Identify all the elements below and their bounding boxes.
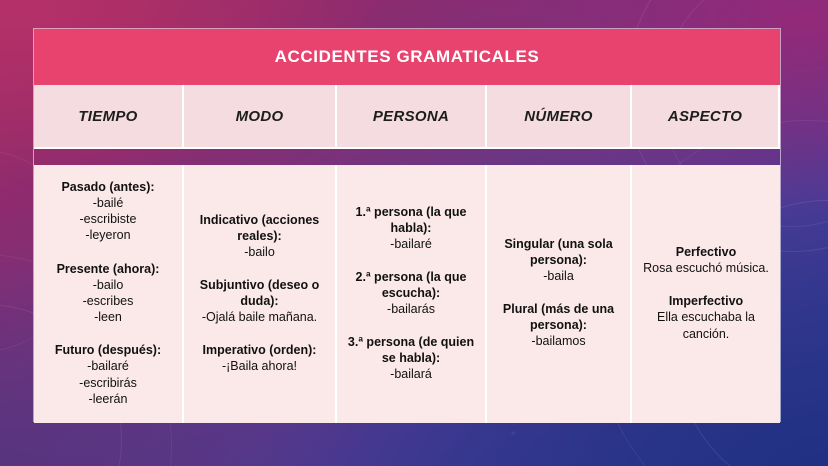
entry-block: Imperfectivo Ella escuchaba la canción.: [638, 293, 774, 342]
entry-title: 1.ª persona (la que habla):: [343, 204, 479, 236]
entry-line: -leen: [40, 309, 176, 325]
column-header-label: TIEMPO: [78, 108, 137, 125]
entry-title: Pasado (antes):: [40, 179, 176, 195]
column-header-modo: MODO: [184, 85, 337, 149]
entry-title: Plural (más de una persona):: [493, 301, 624, 333]
column-header-label: ASPECTO: [668, 108, 742, 125]
entry-line: -¡Baila ahora!: [190, 358, 329, 374]
column-header-aspecto: ASPECTO: [632, 85, 780, 149]
entry-line: -escribes: [40, 293, 176, 309]
entry-line: -escribiste: [40, 211, 176, 227]
column-header-label: NÚMERO: [524, 108, 592, 125]
table-title-bar: ACCIDENTES GRAMATICALES: [34, 29, 780, 85]
entry-block: Indicativo (acciones reales): -bailo: [190, 212, 329, 260]
entry-block: Singular (una sola persona): -baila: [493, 236, 624, 284]
entry-line: -bailarás: [343, 301, 479, 317]
entry-line: -bailo: [40, 277, 176, 293]
entry-title: Subjuntivo (deseo o duda):: [190, 277, 329, 309]
entry-line: -Ojalá baile mañana.: [190, 309, 329, 325]
entry-block: Perfectivo Rosa escuchó música.: [638, 244, 774, 276]
entry-block: Futuro (después): -bailaré -escribirás -…: [40, 342, 176, 407]
entry-line: Rosa escuchó música.: [638, 260, 774, 276]
entry-block: 1.ª persona (la que habla): -bailaré: [343, 204, 479, 252]
entry-line: -bailo: [190, 244, 329, 260]
entry-line: -escribirás: [40, 375, 176, 391]
entry-block: Imperativo (orden): -¡Baila ahora!: [190, 342, 329, 374]
column-header-persona: PERSONA: [337, 85, 487, 149]
entry-title: Indicativo (acciones reales):: [190, 212, 329, 244]
entry-line: Ella escuchaba la canción.: [638, 309, 774, 342]
table-cell-aspecto: Perfectivo Rosa escuchó música. Imperfec…: [632, 165, 780, 423]
column-header-numero: NÚMERO: [487, 85, 632, 149]
entry-title: 3.ª persona (de quien se habla):: [343, 334, 479, 366]
entry-block: Presente (ahora): -bailo -escribes -leen: [40, 261, 176, 326]
column-header-label: MODO: [236, 108, 284, 125]
entry-title: Perfectivo: [638, 244, 774, 260]
entry-line: -leerán: [40, 391, 176, 407]
entry-block: 2.ª persona (la que escucha): -bailarás: [343, 269, 479, 317]
entry-block: 3.ª persona (de quien se habla): -bailar…: [343, 334, 479, 382]
table-cell-tiempo: Pasado (antes): -bailé -escribiste -leye…: [34, 165, 184, 423]
entry-title: Singular (una sola persona):: [493, 236, 624, 268]
entry-line: -bailará: [343, 366, 479, 382]
entry-title: Imperfectivo: [638, 293, 774, 309]
table-cell-modo: Indicativo (acciones reales): -bailo Sub…: [184, 165, 337, 423]
slide-canvas: ACCIDENTES GRAMATICALES TIEMPO MODO PERS…: [0, 0, 828, 466]
entry-line: -bailaré: [343, 236, 479, 252]
entry-title: Imperativo (orden):: [190, 342, 329, 358]
entry-line: -baila: [493, 268, 624, 284]
entry-block: Subjuntivo (deseo o duda): -Ojalá baile …: [190, 277, 329, 325]
entry-title: Presente (ahora):: [40, 261, 176, 277]
table-cell-numero: Singular (una sola persona): -baila Plur…: [487, 165, 632, 423]
entry-line: -leyeron: [40, 227, 176, 243]
entry-line: -bailamos: [493, 333, 624, 349]
column-header-tiempo: TIEMPO: [34, 85, 184, 149]
entry-block: Plural (más de una persona): -bailamos: [493, 301, 624, 349]
page-title: ACCIDENTES GRAMATICALES: [275, 47, 540, 67]
column-header-label: PERSONA: [373, 108, 449, 125]
entry-title: 2.ª persona (la que escucha):: [343, 269, 479, 301]
table-grid: TIEMPO MODO PERSONA NÚMERO ASPECTO Pasad…: [34, 85, 780, 423]
table-cell-persona: 1.ª persona (la que habla): -bailaré 2.ª…: [337, 165, 487, 423]
entry-block: Pasado (antes): -bailé -escribiste -leye…: [40, 179, 176, 244]
entry-line: -bailaré: [40, 358, 176, 374]
entry-title: Futuro (después):: [40, 342, 176, 358]
grammar-table: ACCIDENTES GRAMATICALES TIEMPO MODO PERS…: [33, 28, 781, 422]
entry-line: -bailé: [40, 195, 176, 211]
